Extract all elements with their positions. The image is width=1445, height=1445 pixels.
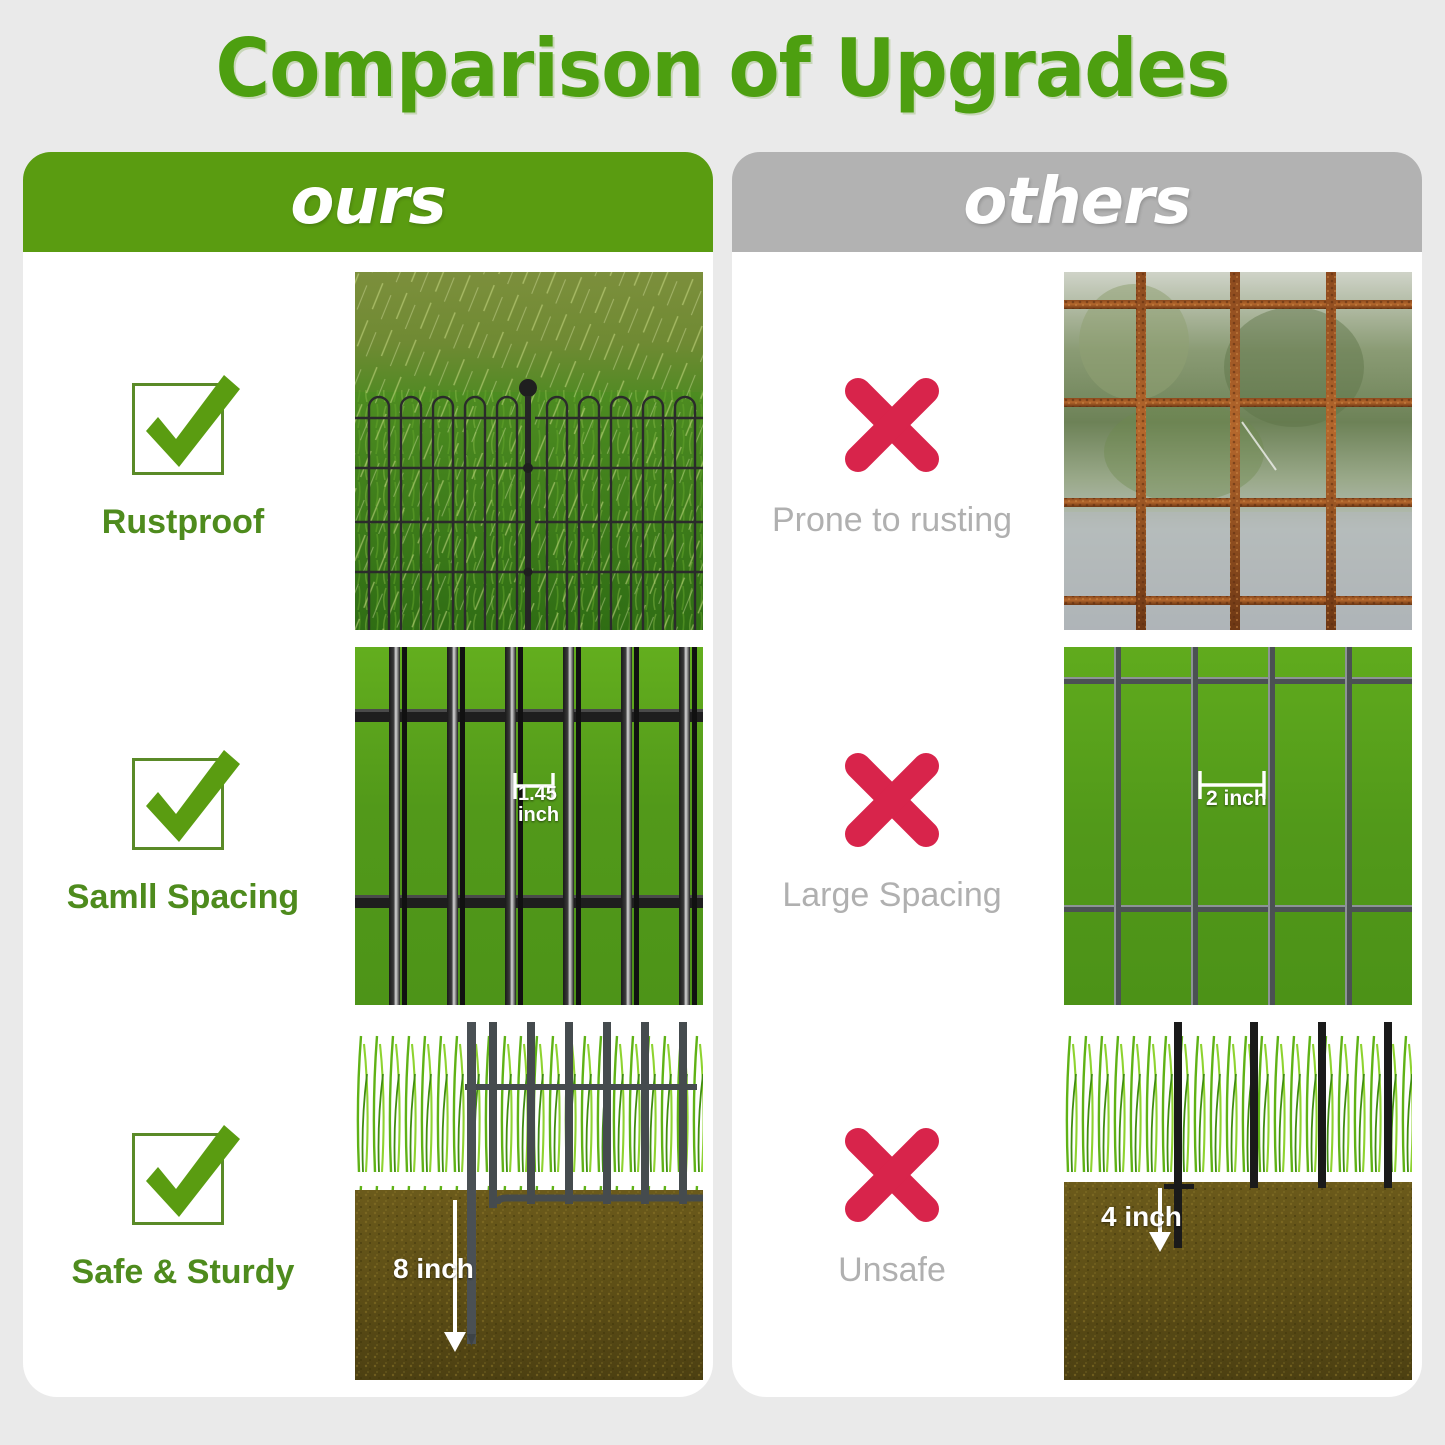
dimension-label: 1.45 inch xyxy=(518,784,559,826)
feature-label: Unsafe xyxy=(838,1251,946,1290)
photo-rustproof-fence xyxy=(355,272,703,630)
feature-label: Rustproof xyxy=(102,503,264,542)
column-header-others-label: others xyxy=(963,165,1190,239)
photo-rusty-mesh xyxy=(1064,272,1412,630)
page-title: Comparison of Upgrades xyxy=(51,22,1395,115)
photo-small-spacing: 1.45 inch xyxy=(355,647,703,1005)
feature-row-safe-sturdy: Safe & Sturdy xyxy=(23,1022,713,1388)
comparison-column-others: others Prone to rusting xyxy=(732,152,1422,1397)
feature-safe-sturdy: Safe & Sturdy xyxy=(23,1022,343,1388)
column-header-ours: ours xyxy=(23,152,713,252)
column-body-ours: Rustproof xyxy=(23,252,713,1397)
photo-deep-stake: 8 inch xyxy=(355,1022,703,1380)
column-header-others: others xyxy=(732,152,1422,252)
dimension-label: 8 inch xyxy=(393,1254,474,1283)
feature-label: Safe & Sturdy xyxy=(72,1253,295,1292)
feature-small-spacing: Samll Spacing xyxy=(23,647,343,1013)
feature-prone-to-rusting: Prone to rusting xyxy=(732,272,1052,638)
feature-row-large-spacing: Large Spacing xyxy=(732,647,1422,1013)
column-body-others: Prone to rusting xyxy=(732,252,1422,1397)
dimension-label: 4 inch xyxy=(1101,1202,1182,1231)
comparison-column-ours: ours Rustproof xyxy=(23,152,713,1397)
feature-label: Samll Spacing xyxy=(67,878,299,917)
photo-shallow-stake: 4 inch xyxy=(1064,1022,1412,1380)
column-header-ours-label: ours xyxy=(290,165,445,239)
feature-label: Large Spacing xyxy=(782,876,1001,915)
check-icon xyxy=(124,1119,242,1231)
cross-icon xyxy=(838,746,946,854)
check-icon xyxy=(124,369,242,481)
cross-icon xyxy=(838,1121,946,1229)
feature-unsafe: Unsafe xyxy=(732,1022,1052,1388)
dimension-label: 2 inch xyxy=(1206,788,1267,810)
feature-row-rustproof: Rustproof xyxy=(23,272,713,638)
feature-rustproof: Rustproof xyxy=(23,272,343,638)
feature-label: Prone to rusting xyxy=(772,501,1012,540)
feature-row-small-spacing: Samll Spacing xyxy=(23,647,713,1013)
cross-icon xyxy=(838,371,946,479)
feature-large-spacing: Large Spacing xyxy=(732,647,1052,1013)
feature-row-unsafe: Unsafe xyxy=(732,1022,1422,1388)
feature-row-prone-to-rusting: Prone to rusting xyxy=(732,272,1422,638)
photo-large-spacing: 2 inch xyxy=(1064,647,1412,1005)
check-icon xyxy=(124,744,242,856)
